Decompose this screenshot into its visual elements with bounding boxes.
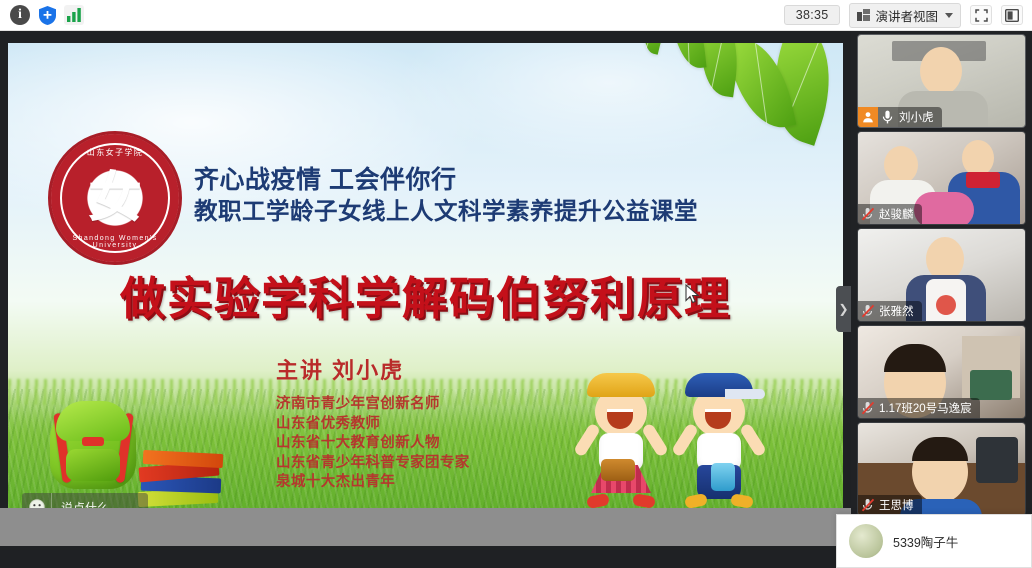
top-toolbar: i 38:35 演讲者视图 [0, 0, 1032, 31]
shared-slide: 山东女子学院 女 Shandong Women's University 齐心战… [8, 43, 843, 539]
microphone-muted-icon [858, 304, 877, 318]
microphone-muted-icon [858, 498, 877, 512]
meeting-timer: 38:35 [784, 5, 841, 25]
logo-ring-bottom-text: Shandong Women's University [51, 235, 179, 249]
join-notification-toast[interactable]: 5339陶子牛 [836, 514, 1032, 568]
participant-nameplate: 王思博 [858, 495, 922, 515]
mouse-cursor [685, 284, 700, 305]
children-illustration [567, 369, 797, 505]
microphone-muted-icon [858, 401, 877, 415]
fullscreen-button[interactable] [970, 5, 992, 25]
university-logo: 山东女子学院 女 Shandong Women's University [48, 131, 182, 265]
participant-nameplate: 1.17班20号马逸宸 [858, 398, 980, 418]
participant-tile[interactable]: 刘小虎 [857, 34, 1026, 128]
host-badge-icon [858, 107, 878, 127]
speaker-view-icon [857, 9, 870, 21]
credential-line: 山东省青少年科普专家团专家 [276, 454, 470, 474]
slide-speaker: 主讲 刘小虎 [276, 353, 404, 385]
credential-line: 泉城十大杰出青年 [276, 473, 470, 493]
credential-line: 山东省优秀教师 [276, 415, 470, 435]
participant-tile[interactable]: 王思博 [857, 422, 1026, 516]
leaf-decoration-icon [669, 43, 706, 70]
heading-line-1: 齐心战疫情 工会伴你行 [194, 165, 814, 196]
participant-name: 张雅然 [877, 303, 914, 319]
toolbar-right-controls: 38:35 演讲者视图 [784, 3, 1032, 28]
split-layout-button[interactable] [1001, 5, 1023, 25]
participant-name: 王思博 [877, 497, 914, 513]
microphone-muted-icon [858, 207, 877, 221]
shield-plus-icon[interactable] [37, 5, 57, 25]
chevron-down-icon [945, 13, 953, 18]
leaf-decoration-icon [636, 43, 671, 55]
microphone-icon [878, 110, 897, 124]
panel-collapse-handle[interactable]: ❯ [836, 286, 851, 332]
heading-line-2: 教职工学龄子女线上人文科学素养提升公益课堂 [194, 196, 814, 227]
stage-bottom-strip [0, 508, 851, 546]
book-stack-decoration [138, 449, 222, 505]
participant-tile[interactable]: 张雅然 [857, 228, 1026, 322]
signal-bars-icon[interactable] [64, 5, 84, 25]
slide-heading: 齐心战疫情 工会伴你行 教职工学龄子女线上人文科学素养提升公益课堂 [194, 165, 814, 227]
toolbar-left-icons: i [0, 5, 84, 25]
view-mode-selector[interactable]: 演讲者视图 [849, 3, 961, 28]
participant-name: 1.17班20号马逸宸 [877, 400, 972, 416]
chevron-right-icon: ❯ [838, 303, 848, 315]
logo-ring-top-text: 山东女子学院 [51, 147, 179, 158]
participant-video-panel: 刘小虎 赵骏麟 [851, 31, 1032, 568]
toast-participant-name: 5339陶子牛 [893, 532, 958, 551]
info-icon[interactable]: i [10, 5, 30, 25]
stage-bottom-bar [0, 546, 851, 568]
user-avatar [849, 524, 883, 558]
view-mode-label: 演讲者视图 [875, 6, 938, 25]
logo-center-glyph: 女 [88, 171, 142, 225]
credential-line: 济南市青少年宫创新名师 [276, 395, 470, 415]
zoom-meeting-window: i 38:35 演讲者视图 [0, 0, 1032, 568]
participant-name: 赵骏麟 [877, 206, 914, 222]
backpack-decoration [36, 389, 154, 497]
girl-character [573, 371, 669, 505]
participant-tile[interactable]: 1.17班20号马逸宸 [857, 325, 1026, 419]
participant-nameplate: 赵骏麟 [858, 204, 922, 224]
presentation-stage: 山东女子学院 女 Shandong Women's University 齐心战… [0, 31, 851, 568]
participant-tile[interactable]: 赵骏麟 [857, 131, 1026, 225]
participant-nameplate: 刘小虎 [858, 107, 942, 127]
credential-line: 山东省十大教育创新人物 [276, 434, 470, 454]
participant-nameplate: 张雅然 [858, 301, 922, 321]
participant-name: 刘小虎 [897, 109, 934, 125]
speaker-credentials: 济南市青少年宫创新名师 山东省优秀教师 山东省十大教育创新人物 山东省青少年科普… [276, 395, 470, 493]
boy-character [671, 371, 767, 505]
